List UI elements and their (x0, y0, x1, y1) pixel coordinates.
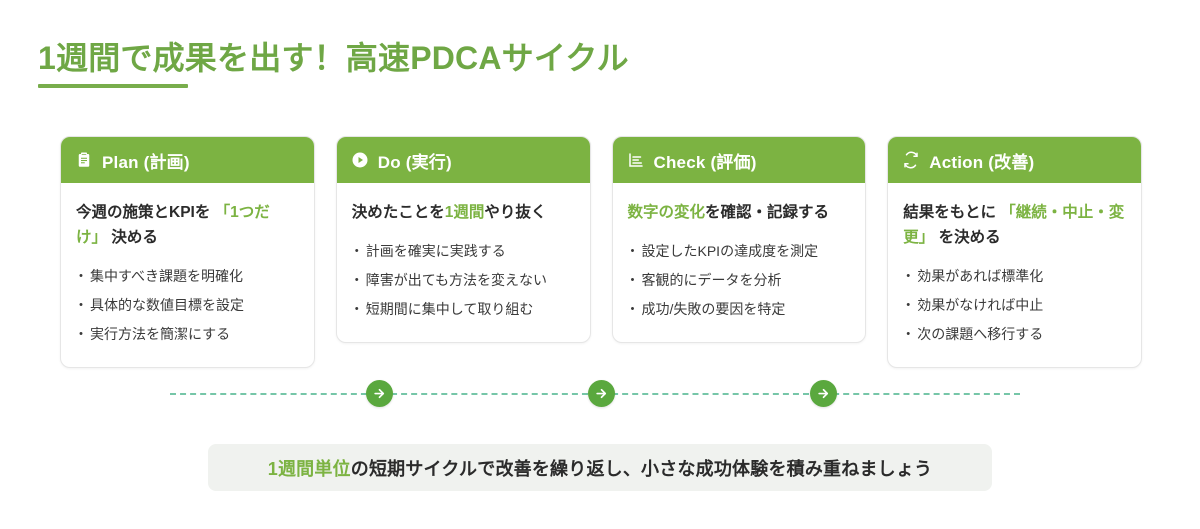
play-circle-icon (351, 151, 369, 169)
card-do[interactable]: Do (実行) 決めたことを1週間やり抜く 計画を確実に実践する 障害が出ても方… (336, 136, 591, 343)
title-underline (38, 84, 188, 88)
card-do-header: Do (実行) (337, 137, 590, 183)
card-check-title: Check (評価) (654, 148, 757, 173)
card-do-body: 決めたことを1週間やり抜く 計画を確実に実践する 障害が出ても方法を変えない 短… (337, 183, 590, 342)
card-do-list: 計画を確実に実践する 障害が出ても方法を変えない 短期間に集中して取り組む (352, 237, 575, 324)
list-item: 客観的にデータを分析 (628, 266, 851, 295)
card-action-body: 結果をもとに 「継続・中止・変更」 を決める 効果があれば標準化 効果がなければ… (888, 183, 1141, 367)
card-plan-list: 集中すべき課題を明確化 具体的な数値目標を設定 実行方法を簡潔にする (76, 262, 299, 349)
card-action[interactable]: Action (改善) 結果をもとに 「継続・中止・変更」 を決める 効果があれ… (887, 136, 1142, 368)
card-plan[interactable]: Plan (計画) 今週の施策とKPIを 「1つだけ」 決める 集中すべき課題を… (60, 136, 315, 368)
card-action-title: Action (改善) (929, 148, 1034, 173)
clipboard-icon (75, 151, 93, 169)
list-item: 集中すべき課題を明確化 (76, 262, 299, 291)
arrow-right-icon (810, 380, 837, 407)
list-item: 実行方法を簡潔にする (76, 320, 299, 349)
list-item: 次の課題へ移行する (903, 320, 1126, 349)
bar-chart-icon (627, 151, 645, 169)
flow-connector (170, 380, 1020, 408)
card-check-list: 設定したKPIの達成度を測定 客観的にデータを分析 成功/失敗の要因を特定 (628, 237, 851, 324)
footer-message: 1週間単位の短期サイクルで改善を繰り返し、小さな成功体験を積み重ねましょう (268, 455, 933, 481)
list-item: 成功/失敗の要因を特定 (628, 295, 851, 324)
footer-banner: 1週間単位の短期サイクルで改善を繰り返し、小さな成功体験を積み重ねましょう (208, 444, 992, 491)
refresh-cycle-icon (902, 151, 920, 169)
pdca-cards-row: Plan (計画) 今週の施策とKPIを 「1つだけ」 決める 集中すべき課題を… (60, 136, 1142, 368)
arrow-right-icon (588, 380, 615, 407)
card-action-lead: 結果をもとに 「継続・中止・変更」 を決める (903, 200, 1126, 250)
card-plan-header: Plan (計画) (61, 137, 314, 183)
list-item: 障害が出ても方法を変えない (352, 266, 575, 295)
list-item: 短期間に集中して取り組む (352, 295, 575, 324)
card-plan-title: Plan (計画) (102, 148, 190, 173)
arrow-right-icon (366, 380, 393, 407)
card-plan-lead: 今週の施策とKPIを 「1つだけ」 決める (76, 200, 299, 250)
card-do-title: Do (実行) (378, 148, 452, 173)
list-item: 設定したKPIの達成度を測定 (628, 237, 851, 266)
card-plan-body: 今週の施策とKPIを 「1つだけ」 決める 集中すべき課題を明確化 具体的な数値… (61, 183, 314, 367)
page-title: 1週間で成果を出す！高速PDCAサイクル (38, 33, 629, 79)
card-check-body: 数字の変化を確認・記録する 設定したKPIの達成度を測定 客観的にデータを分析 … (613, 183, 866, 342)
card-action-list: 効果があれば標準化 効果がなければ中止 次の課題へ移行する (903, 262, 1126, 349)
card-do-lead: 決めたことを1週間やり抜く (352, 200, 575, 225)
card-action-header: Action (改善) (888, 137, 1141, 183)
list-item: 計画を確実に実践する (352, 237, 575, 266)
list-item: 効果がなければ中止 (903, 291, 1126, 320)
card-check[interactable]: Check (評価) 数字の変化を確認・記録する 設定したKPIの達成度を測定 … (612, 136, 867, 343)
list-item: 具体的な数値目標を設定 (76, 291, 299, 320)
card-check-lead: 数字の変化を確認・記録する (628, 200, 851, 225)
card-check-header: Check (評価) (613, 137, 866, 183)
list-item: 効果があれば標準化 (903, 262, 1126, 291)
